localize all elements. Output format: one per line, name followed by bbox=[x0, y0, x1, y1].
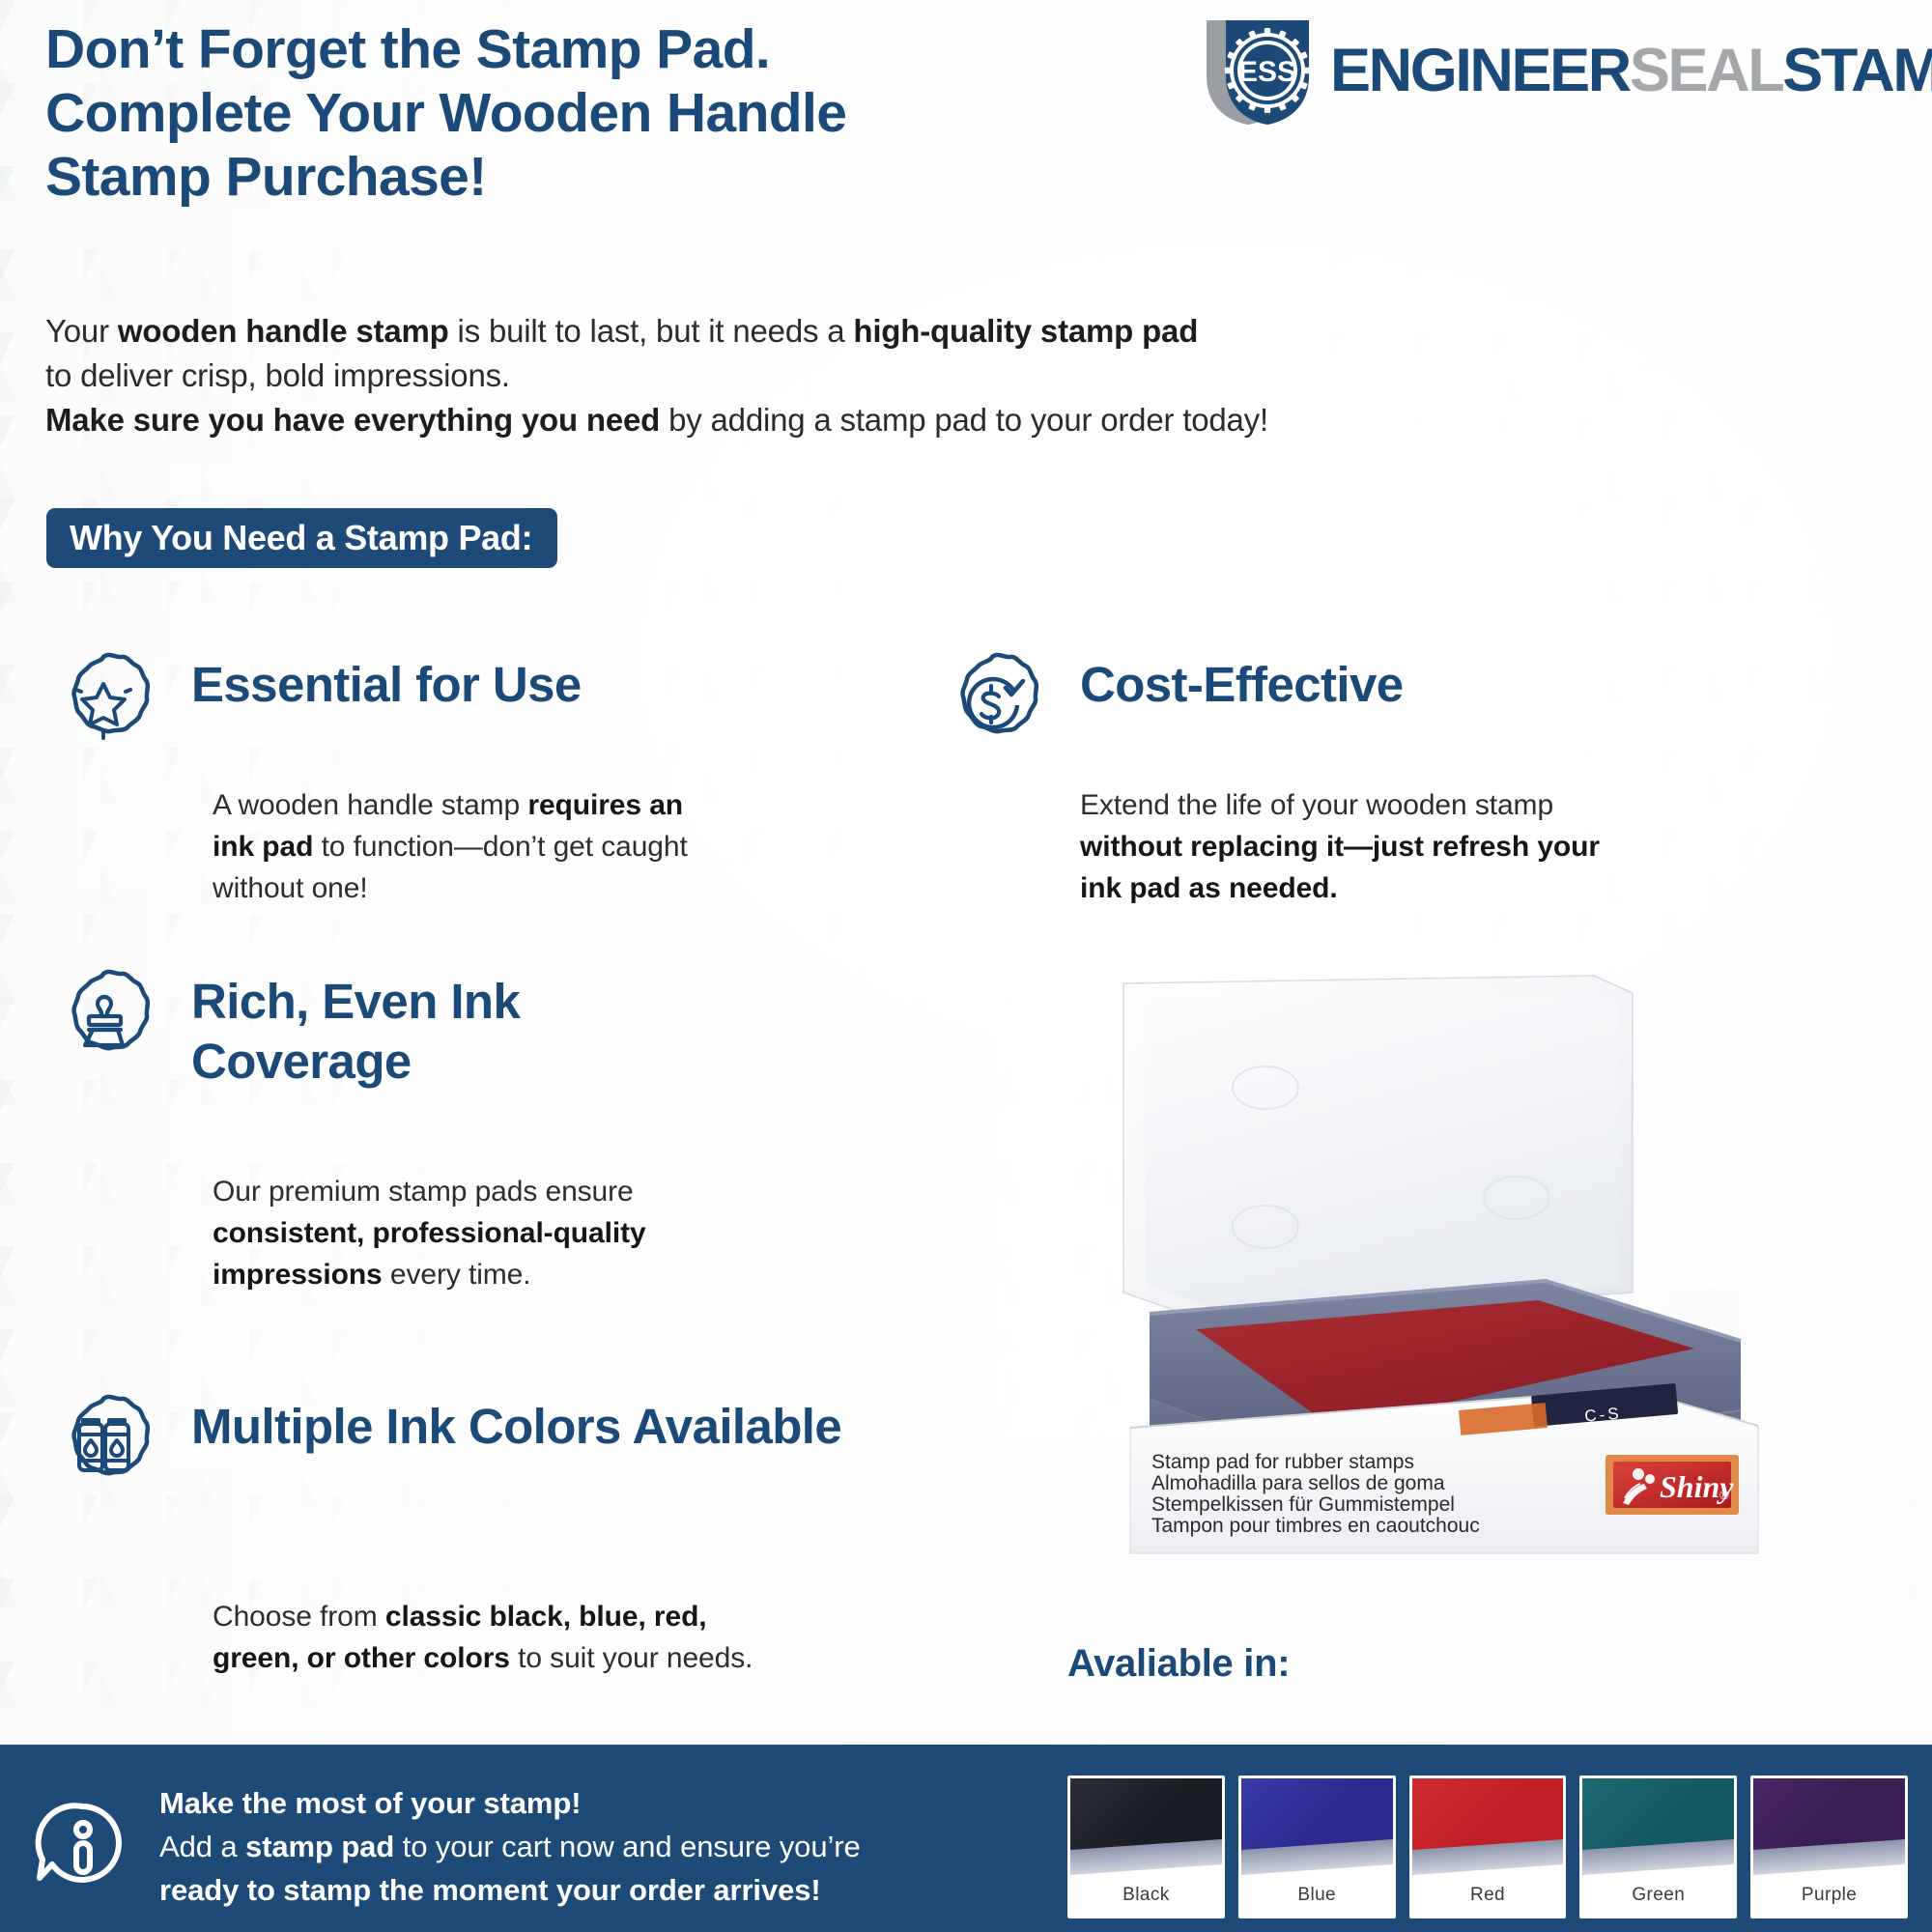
infographic-page: Don’t Forget the Stamp Pad. Complete You… bbox=[0, 0, 1932, 1932]
feature-body-line: Extend the life of your wooden stamp bbox=[1080, 784, 1911, 826]
intro-text: is built to last, but it needs a bbox=[449, 313, 854, 349]
footer-message: Make the most of your stamp! Add a stamp… bbox=[159, 1781, 1067, 1912]
footer-line-3: ready to stamp the moment your order arr… bbox=[159, 1868, 1067, 1912]
footer-bold-stamp-pad: stamp pad bbox=[245, 1830, 394, 1863]
info-bubble-icon bbox=[32, 1795, 132, 1895]
box-text-line: Stempelkissen für Gummistempel bbox=[1151, 1493, 1455, 1516]
intro-line-3: Make sure you have everything you need b… bbox=[45, 398, 1688, 442]
ess-badge-text: ESS bbox=[1238, 56, 1296, 88]
footer-line-1: Make the most of your stamp! bbox=[159, 1781, 1067, 1825]
swatch-image bbox=[1753, 1778, 1905, 1875]
headline-line-2: Complete Your Wooden Handle bbox=[45, 81, 1185, 145]
box-text-line: Almohadilla para sellos de goma bbox=[1151, 1472, 1445, 1494]
feature-body: A wooden handle stamp requires an ink pa… bbox=[213, 784, 927, 909]
footer-text: to your cart now and ensure you’re bbox=[394, 1830, 860, 1863]
intro-line-1: Your wooden handle stamp is built to las… bbox=[45, 309, 1688, 354]
logo-word-engineer: ENGINEER bbox=[1330, 37, 1630, 104]
swatch-black[interactable]: Black bbox=[1067, 1776, 1225, 1918]
intro-bold-make-sure: Make sure you have everything you need bbox=[45, 402, 660, 438]
swatch-red[interactable]: Red bbox=[1409, 1776, 1567, 1918]
headline-line-3: Stamp Purchase! bbox=[45, 145, 1185, 209]
swatch-green[interactable]: Green bbox=[1579, 1776, 1737, 1918]
ess-shield-icon: ESS bbox=[1203, 14, 1321, 125]
swatch-purple[interactable]: Purple bbox=[1750, 1776, 1908, 1918]
feature-body-line: A wooden handle stamp requires an bbox=[213, 784, 927, 826]
feature-body-line: consistent, professional-quality bbox=[213, 1212, 927, 1254]
ink-color-swatches: Black Blue Red Green bbox=[1067, 1776, 1908, 1918]
feature-body-line: Choose from classic black, blue, red, bbox=[213, 1596, 1014, 1637]
intro-text: by adding a stamp pad to your order toda… bbox=[660, 402, 1268, 438]
logo-word-stamps: STAMPS bbox=[1782, 37, 1932, 104]
feature-body-line: ink pad as needed. bbox=[1080, 867, 1911, 909]
intro-bold-wooden-handle-stamp: wooden handle stamp bbox=[118, 313, 449, 349]
feature-body-line: green, or other colors to suit your need… bbox=[213, 1637, 1014, 1679]
feature-title: Essential for Use bbox=[191, 655, 790, 715]
feature-body-line: Our premium stamp pads ensure bbox=[213, 1171, 927, 1212]
feature-body: Choose from classic black, blue, red, gr… bbox=[213, 1596, 1014, 1679]
footer-line-2: Add a stamp pad to your cart now and ens… bbox=[159, 1825, 1067, 1868]
box-text-line: Tampon pour timbres en caoutchouc bbox=[1151, 1515, 1480, 1537]
swatch-label: Red bbox=[1412, 1875, 1564, 1916]
feature-title: Cost-Effective bbox=[1080, 655, 1776, 715]
feature-body-line: without one! bbox=[213, 867, 927, 909]
star-badge-icon bbox=[46, 649, 160, 763]
feature-body-line: ink pad to function—don’t get caught bbox=[213, 826, 927, 867]
headline-line-1: Don’t Forget the Stamp Pad. bbox=[45, 17, 1185, 81]
logo-word-seal: SEAL bbox=[1630, 37, 1782, 104]
rubber-stamp-badge-icon bbox=[46, 966, 160, 1080]
swatch-label: Green bbox=[1582, 1875, 1734, 1916]
swatch-image bbox=[1070, 1778, 1222, 1875]
swatch-label: Blue bbox=[1241, 1875, 1393, 1916]
swatch-image bbox=[1241, 1778, 1393, 1875]
swatch-image bbox=[1582, 1778, 1734, 1875]
intro-text: Your bbox=[45, 313, 118, 349]
feature-body: Our premium stamp pads ensure consistent… bbox=[213, 1171, 927, 1295]
dollar-check-badge-icon bbox=[935, 649, 1049, 763]
section-header-label: Why You Need a Stamp Pad: bbox=[70, 518, 532, 558]
feature-body-line: impressions every time. bbox=[213, 1254, 927, 1295]
product-photo-stamp-pad: C-S Stamp pad for rubber stamps Almohadi… bbox=[1092, 974, 1768, 1563]
feature-body: Extend the life of your wooden stamp wit… bbox=[1080, 784, 1911, 909]
shiny-registered-mark: ® bbox=[1719, 1488, 1729, 1502]
swatch-image bbox=[1412, 1778, 1564, 1875]
swatch-label: Black bbox=[1070, 1875, 1222, 1916]
intro-bold-high-quality-stamp-pad: high-quality stamp pad bbox=[853, 313, 1198, 349]
shiny-brand-badge: Shiny ® bbox=[1605, 1455, 1739, 1515]
available-in-label: Avaliable in: bbox=[1067, 1642, 1290, 1686]
swatch-blue[interactable]: Blue bbox=[1238, 1776, 1396, 1918]
intro-line-2: to deliver crisp, bold impressions. bbox=[45, 354, 1688, 398]
intro-paragraph: Your wooden handle stamp is built to las… bbox=[45, 309, 1688, 442]
section-header-pill: Why You Need a Stamp Pad: bbox=[46, 508, 557, 568]
ink-bottles-badge-icon bbox=[46, 1391, 160, 1505]
feature-body-line: without replacing it—just refresh your bbox=[1080, 826, 1911, 867]
box-text-line: Stamp pad for rubber stamps bbox=[1151, 1451, 1414, 1473]
feature-title: Multiple Ink Colors Available bbox=[191, 1397, 887, 1457]
page-headline: Don’t Forget the Stamp Pad. Complete You… bbox=[45, 17, 1185, 209]
box-side-label: C-S bbox=[1584, 1404, 1623, 1425]
swatch-label: Purple bbox=[1753, 1875, 1905, 1916]
footer-text: Add a bbox=[159, 1830, 245, 1863]
brand-logo[interactable]: ESS ENGINEERSEALSTAMPS .COM bbox=[1203, 12, 1922, 128]
feature-title: Rich, Even Ink Coverage bbox=[191, 972, 732, 1092]
logo-wordmark: ENGINEERSEALSTAMPS bbox=[1330, 37, 1932, 104]
